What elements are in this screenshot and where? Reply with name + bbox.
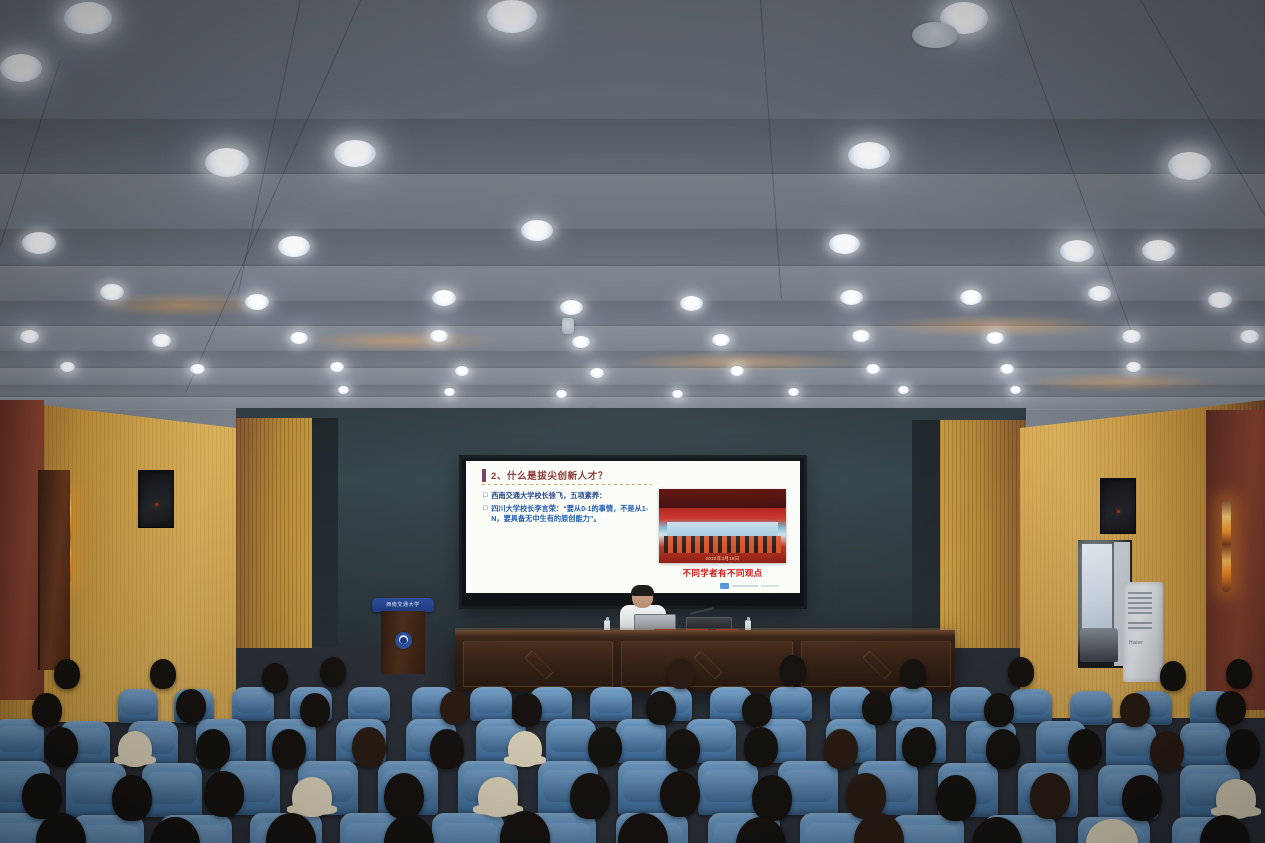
audience-head (742, 693, 772, 727)
ceiling-downlight (960, 290, 982, 305)
ceiling-downlight (455, 366, 469, 376)
ceiling-downlight (521, 220, 553, 241)
auditorium-seat[interactable] (1106, 723, 1156, 767)
ac-vent-grill-icon (1128, 592, 1152, 614)
audience-head (668, 659, 694, 689)
ac-vent-grill-icon (1128, 622, 1152, 632)
audience-head (512, 693, 542, 727)
audience-head (902, 727, 936, 767)
auditorium-seat[interactable] (698, 761, 758, 815)
audience-head (1160, 661, 1186, 691)
auditorium-seat[interactable] (232, 687, 274, 721)
audience-head (1008, 657, 1034, 687)
audience-head-with-cap (508, 731, 542, 767)
ceiling (0, 0, 1265, 432)
slide-red-conclusion: 不同学者有不同观点 (659, 567, 786, 579)
wall-column-left-dark (312, 418, 338, 646)
slide-accent-bar-icon (482, 469, 486, 482)
ceiling-downlight (20, 330, 39, 343)
speaker-led-icon (155, 503, 158, 506)
ceiling-downlight (840, 290, 863, 305)
window-light (1082, 544, 1112, 636)
slide-footer-text-mark (732, 585, 758, 587)
ceiling-downlight (852, 330, 870, 342)
ceiling-downlight (898, 386, 909, 394)
slide-bullet-list: □ 西南交通大学校长徐飞，五项素养： □ 四川大学校长李言荣：“要从0-1的事情… (483, 491, 651, 528)
audience-head (300, 693, 330, 727)
slide-photo-conference: 2015年3月18日 (659, 489, 786, 563)
slide-title-row: 2、什么是拔尖创新人才？ (482, 468, 608, 482)
projection-screen: 2、什么是拔尖创新人才？ □ 西南交通大学校长徐飞，五项素养： □ 四川大学校长… (462, 458, 804, 606)
ceiling-downlight (290, 332, 308, 344)
auditorium-photo: Haier 2、什么是拔尖创新人才？ □ 西南交通大学校长徐飞，五项素养： □ … (0, 0, 1265, 843)
ceiling-downlight (245, 294, 269, 310)
ceiling-downlight (672, 390, 683, 398)
audience-head (204, 771, 244, 817)
slide-title: 2、什么是拔尖创新人才？ (491, 468, 608, 482)
audience-head (1226, 659, 1252, 689)
audience-head (780, 655, 806, 685)
audience-head (22, 773, 62, 819)
ceiling-downlight (430, 330, 448, 342)
audience-head-with-cap (1216, 779, 1256, 819)
audience-head (320, 657, 346, 687)
audience-head-with-cap (118, 731, 152, 767)
photo-seated-panel (664, 536, 781, 552)
ceiling-downlight (1088, 286, 1111, 301)
audience-head (384, 773, 424, 819)
ceiling-downlight (330, 362, 344, 372)
ceiling-downlight (1010, 386, 1021, 394)
wall-column-right-dark (912, 420, 942, 646)
table-top-edge (455, 630, 955, 637)
audience-head (986, 729, 1020, 769)
ceiling-downlight (100, 284, 124, 300)
slide-bullet-item: □ 四川大学校长李言荣：“要从0-1的事情，不是从1-N，要具备无中生有的原创能… (483, 504, 651, 524)
audience-head (196, 729, 230, 769)
auditorium-seat[interactable] (1070, 691, 1112, 725)
audience-head (32, 693, 62, 727)
auditorium-seat[interactable] (470, 687, 512, 721)
ceiling-downlight (590, 368, 604, 378)
audience-head (862, 691, 892, 725)
ceiling-downlight (205, 148, 249, 177)
ceiling-downlight (1060, 240, 1094, 262)
ceiling-downlight (432, 290, 456, 306)
ceiling-downlight (444, 388, 455, 396)
ceiling-downlight (986, 332, 1004, 344)
ceiling-downlight (866, 364, 880, 374)
wall-speaker-right (1100, 478, 1136, 534)
presenter-hair (631, 585, 654, 596)
auditorium-seat[interactable] (890, 687, 932, 721)
audience-head (150, 659, 176, 689)
audience-head (112, 775, 152, 821)
ceiling-downlight (60, 362, 75, 372)
audience-head (262, 663, 288, 693)
photo-stage-banner (667, 522, 779, 538)
ceiling-downlight (560, 300, 583, 315)
audience-seating (0, 645, 1265, 843)
bullet-square-icon: □ (483, 504, 487, 524)
presentation-slide: 2、什么是拔尖创新人才？ □ 西南交通大学校长徐飞，五项素养： □ 四川大学校长… (466, 461, 800, 593)
audience-head (1150, 731, 1184, 771)
auditorium-seat[interactable] (590, 687, 632, 721)
audience-head (1122, 775, 1162, 821)
audience-head (824, 729, 858, 769)
ceiling-downlight (1168, 152, 1211, 180)
audience-head (1030, 773, 1070, 819)
wall-sconce-right (1222, 500, 1231, 592)
ceiling-downlight (487, 0, 537, 33)
ceiling-downlight (0, 54, 42, 82)
audience-head (660, 771, 700, 817)
audience-head (570, 773, 610, 819)
auditorium-seat[interactable] (432, 813, 504, 843)
audience-head (1216, 691, 1246, 725)
auditorium-seat[interactable] (348, 687, 390, 721)
wood-panel-right-inner (940, 420, 1026, 648)
auditorium-seat[interactable] (1010, 689, 1052, 723)
bullet-square-icon: □ (483, 491, 487, 501)
auditorium-seat[interactable] (1180, 723, 1230, 767)
audience-head (1068, 729, 1102, 769)
ceiling-downlight (848, 142, 890, 169)
audience-head (936, 775, 976, 821)
ceiling-downlight (1142, 240, 1175, 261)
audience-head (44, 727, 78, 767)
ceiling-downlight (190, 364, 205, 374)
auditorium-seat[interactable] (616, 719, 666, 763)
ceiling-downlight (22, 232, 56, 254)
audience-head (272, 729, 306, 769)
audience-head (588, 727, 622, 767)
podium-banner: 西南交通大学 (372, 598, 434, 612)
audience-head (1226, 729, 1260, 769)
audience-head (1120, 693, 1150, 727)
audience-head-with-cap (292, 777, 332, 817)
audience-head (440, 691, 470, 725)
audience-head (744, 727, 778, 767)
ceiling-downlight (64, 2, 112, 34)
podium-banner-text: 西南交通大学 (372, 601, 434, 608)
audience-head (352, 727, 386, 767)
ceiling-downlight (680, 296, 703, 311)
auditorium-seat[interactable] (118, 689, 158, 723)
audience-head (176, 689, 206, 723)
auditorium-seat[interactable] (0, 719, 44, 763)
bullet-text: 西南交通大学校长徐飞，五项素养： (491, 491, 606, 501)
audience-head (984, 693, 1014, 727)
ceiling-downlight (334, 140, 376, 167)
wall-speaker-left (138, 470, 174, 528)
slide-bullet-item: □ 西南交通大学校长徐飞，五项素养： (483, 491, 651, 501)
ceiling-downlight (712, 334, 730, 346)
auditorium-seat[interactable] (770, 687, 812, 721)
audience-head (54, 659, 80, 689)
ceiling-downlight (829, 234, 860, 254)
ceiling-vent-disc-icon (912, 22, 958, 48)
ceiling-downlight (730, 366, 744, 376)
ceiling-downlight (556, 390, 567, 398)
ceiling-downlight (278, 236, 310, 257)
ceiling-downlight (152, 334, 171, 347)
ceiling-projector-icon (562, 318, 574, 334)
slide-title-underline (482, 484, 652, 485)
speaker-led-icon (1117, 510, 1120, 513)
audience-head (646, 691, 676, 725)
ceiling-downlight (1126, 362, 1141, 372)
ceiling-downlight (1122, 330, 1141, 343)
audience-head-with-cap (478, 777, 518, 817)
audience-head (752, 775, 792, 821)
door-left[interactable] (38, 470, 70, 670)
ceiling-downlight (788, 388, 799, 396)
ceiling-downlight (338, 386, 349, 394)
audience-head (666, 729, 700, 769)
ceiling-downlight (1000, 364, 1014, 374)
photo-backdrop (659, 489, 786, 508)
wood-panel-left-inner (236, 418, 312, 648)
slide-footer-logo-icon (720, 583, 729, 589)
ceiling-downlight (1240, 330, 1259, 343)
photo-caption: 2015年3月18日 (659, 556, 786, 562)
slide-footer-text-mark (761, 585, 779, 587)
ceiling-downlight (1208, 292, 1232, 308)
audience-head (430, 729, 464, 769)
audience-head (900, 659, 926, 689)
ceiling-downlight (572, 336, 590, 348)
bullet-text: 四川大学校长李言荣：“要从0-1的事情，不是从1-N，要具备无中生有的原创能力”… (491, 504, 651, 524)
